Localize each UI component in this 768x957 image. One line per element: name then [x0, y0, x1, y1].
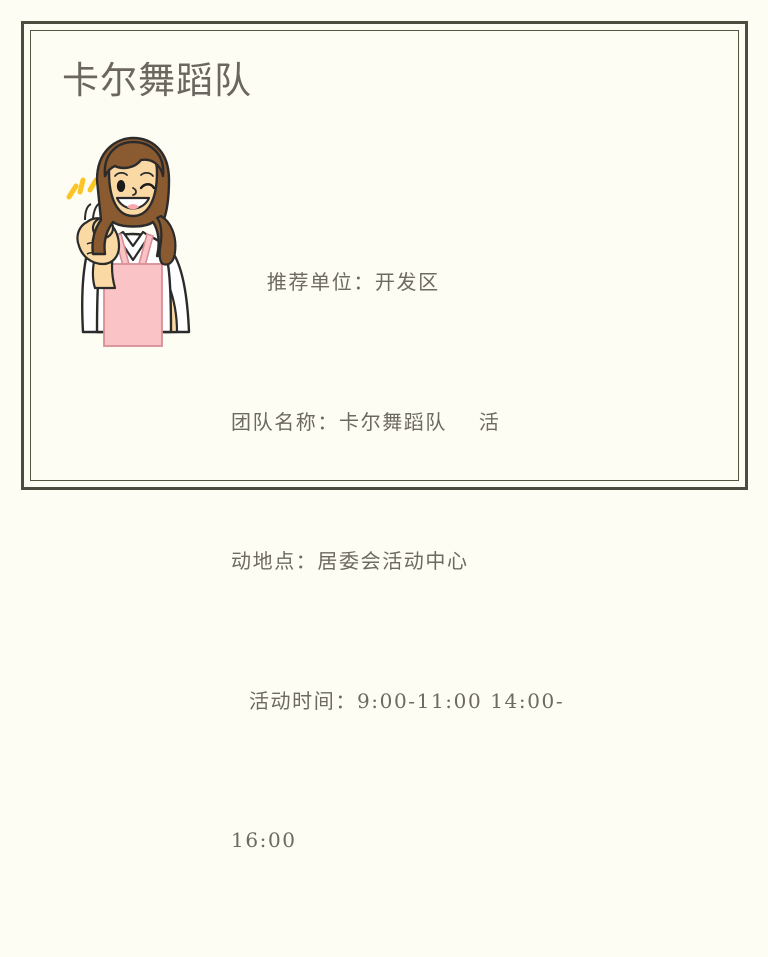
eye-open	[117, 180, 125, 192]
page-title: 卡尔舞蹈队	[62, 58, 252, 104]
info-line-activity-time: 活动时间：9:00-11:00 14:00-	[231, 678, 661, 725]
poster-page: 卡尔舞蹈队	[0, 0, 768, 510]
info-line-activity-time-cont: 16:00	[231, 817, 661, 864]
sparkle-icon	[69, 180, 96, 197]
info-line-recommending-unit: 推荐单位：开发区	[231, 259, 661, 306]
info-line-team-name: 团队名称：卡尔舞蹈队 活	[231, 399, 661, 446]
info-line-activity-place: 动地点：居委会活动中心	[231, 538, 661, 585]
cartoon-woman-illustration	[57, 136, 207, 351]
activity-info-block: 推荐单位：开发区 团队名称：卡尔舞蹈队 活 动地点：居委会活动中心 活动时间：9…	[231, 166, 661, 957]
